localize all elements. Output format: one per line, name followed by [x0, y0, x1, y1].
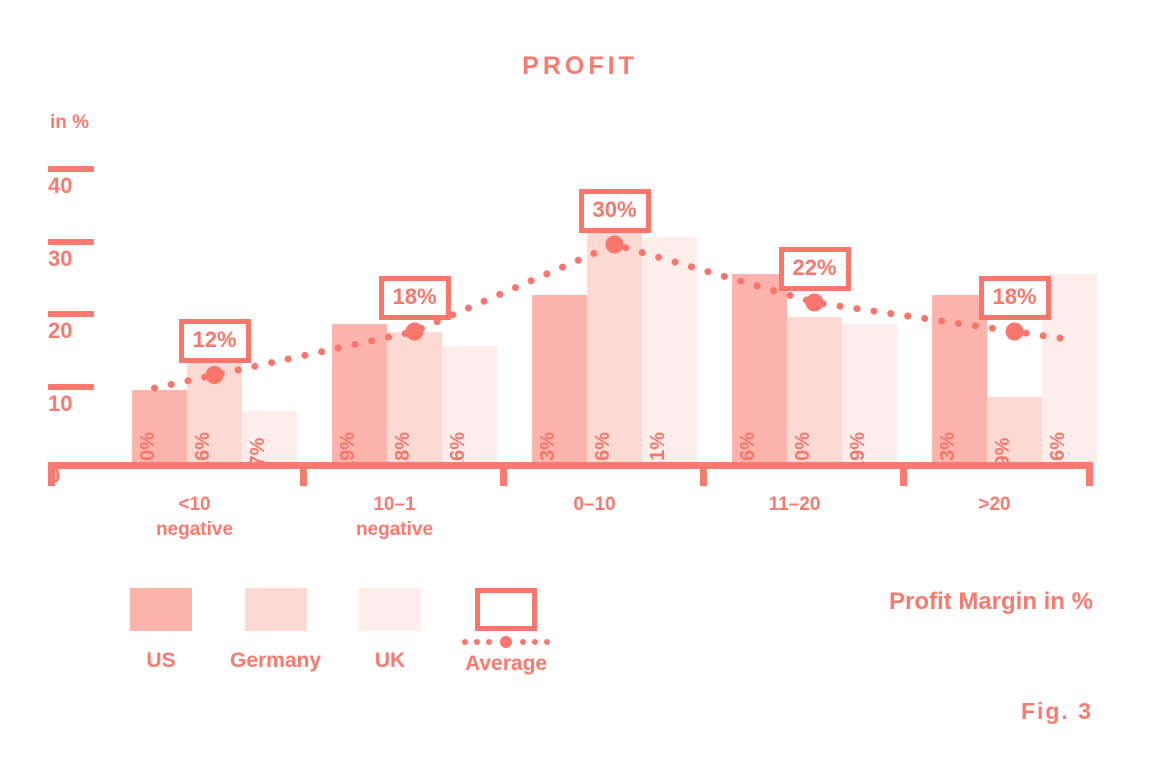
x-axis-tick	[48, 469, 55, 486]
x-axis-category-label: 11–20	[769, 492, 821, 517]
legend-item-average[interactable]: Average	[459, 588, 553, 676]
chart-plot-area: in % 403020100 10%16%7%19%18%16%23%36%31…	[48, 140, 1093, 465]
legend-item-germany[interactable]: Germany	[230, 588, 321, 673]
x-axis-tick	[900, 469, 907, 486]
x-axis-labels: <10negative10–1negative0–1011–20>20	[48, 492, 1093, 562]
average-callout: 18%	[978, 276, 1050, 320]
profit-margin-caption: Profit Margin in %	[889, 588, 1093, 616]
x-axis-tick	[1086, 469, 1093, 486]
x-axis-tick	[700, 469, 707, 486]
legend-swatch	[245, 588, 307, 631]
x-axis-category-label-line: negative	[156, 517, 233, 542]
x-axis-category-label: 0–10	[573, 492, 615, 517]
page-title: PROFIT	[0, 52, 1160, 81]
average-callouts-layer: 12%18%30%22%18%	[48, 140, 1093, 465]
average-callout: 18%	[378, 276, 450, 320]
legend-label: Average	[465, 652, 547, 676]
chart-legend: USGermanyUKAverage	[130, 588, 591, 676]
average-callout: 30%	[578, 189, 650, 233]
legend-swatch	[130, 588, 192, 631]
legend-label: US	[146, 649, 175, 673]
x-axis-tick	[300, 469, 307, 486]
x-axis-category-label-line: >20	[978, 492, 1010, 517]
legend-label: UK	[375, 649, 405, 673]
x-axis-category-label-line: <10	[156, 492, 233, 517]
legend-label: Germany	[230, 649, 321, 673]
x-axis-category-label-line: 10–1	[356, 492, 433, 517]
average-callout: 12%	[178, 319, 250, 363]
x-axis-category-label-line: 0–10	[573, 492, 615, 517]
legend-swatch	[359, 588, 421, 631]
x-axis-category-label: 10–1negative	[356, 492, 433, 542]
x-axis-category-label: >20	[978, 492, 1010, 517]
legend-item-uk[interactable]: UK	[359, 588, 421, 673]
legend-item-us[interactable]: US	[130, 588, 192, 673]
y-axis-unit-label: in %	[50, 112, 89, 134]
average-callout: 22%	[778, 247, 850, 291]
x-axis-category-label-line: negative	[356, 517, 433, 542]
legend-average-line-icon	[459, 636, 553, 648]
x-axis-tick	[500, 469, 507, 486]
legend-swatch	[475, 588, 537, 631]
x-axis-category-label-line: 11–20	[769, 492, 821, 517]
x-axis-category-label: <10negative	[156, 492, 233, 542]
figure-caption: Fig. 3	[1021, 698, 1093, 725]
